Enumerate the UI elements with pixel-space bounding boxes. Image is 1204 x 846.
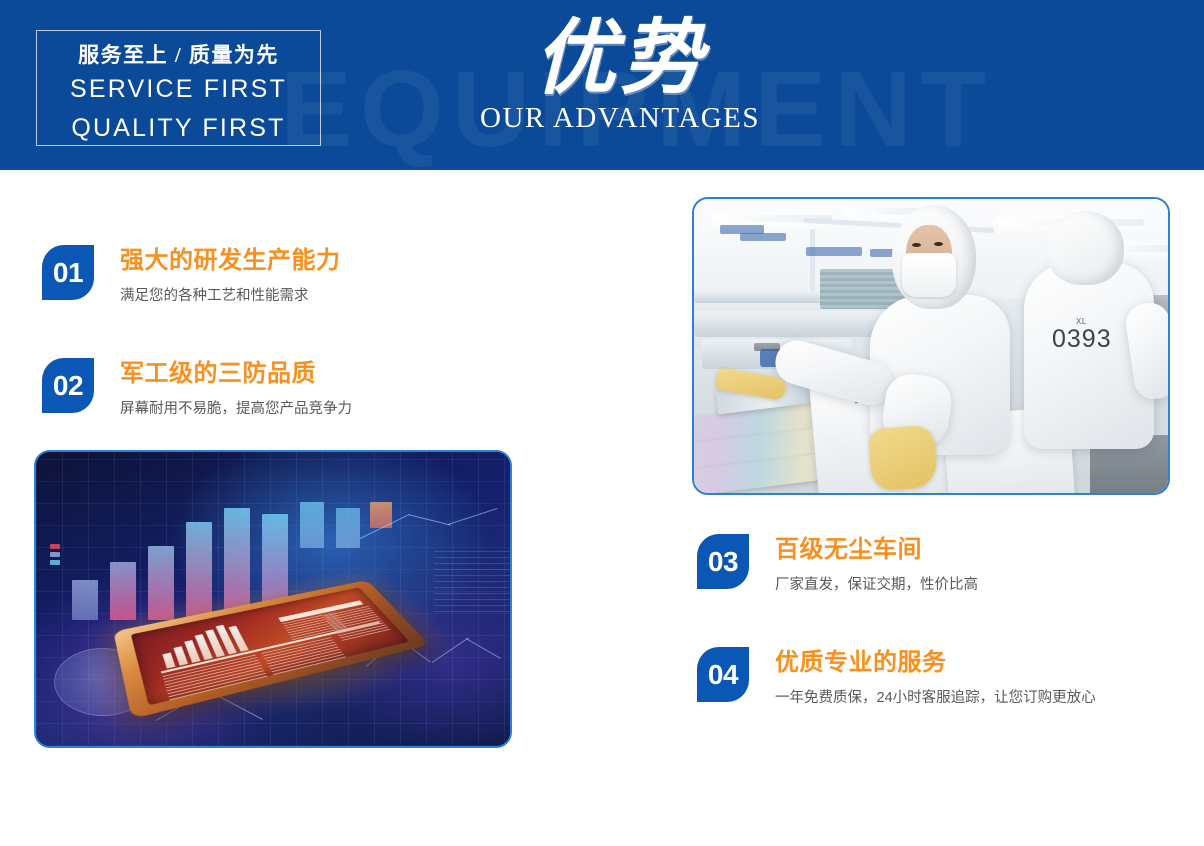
slogan-english-line1: SERVICE FIRST [37,66,320,105]
feature-title: 军工级的三防品质 [120,360,352,388]
feature-item-02: 02 军工级的三防品质 屏幕耐用不易脆，提高您产品竞争力 [42,358,352,419]
screen-bar [174,646,189,665]
feature-number-badge: 04 [697,647,749,702]
worker-glove [868,425,938,491]
background-bar [300,502,324,548]
uniform-id-number: 0393 [1052,325,1112,354]
page-title-block: 优势 OUR ADVANTAGES [470,22,770,152]
feature-title: 强大的研发生产能力 [120,247,341,275]
feature-item-04: 04 优质专业的服务 一年免费质保，24小时客服追踪，让您订购更放心 [697,647,1096,708]
header-banner: EQUIPMENT 服务至上 / 质量为先 SERVICE FIRST QUAL… [0,0,1204,170]
feature-number-badge: 03 [697,534,749,589]
feature-subtitle: 一年免费质保，24小时客服追踪，让您订购更放心 [775,677,1096,708]
slogan-box: 服务至上 / 质量为先 SERVICE FIRST QUALITY FIRST [36,30,321,146]
feature-subtitle: 屏幕耐用不易脆，提高您产品竞争力 [120,388,352,419]
screen-bar [184,640,200,663]
background-bar [110,562,136,620]
cleanroom-scene: XL 0393 [694,199,1168,493]
data-scene [36,452,510,746]
slogan-english-line2: QUALITY FIRST [37,105,320,144]
worker-eye [912,243,921,247]
feature-item-03: 03 百级无尘车间 厂家直发，保证交期，性价比高 [697,534,978,595]
data-visualization-photo [34,450,512,748]
feature-subtitle: 满足您的各种工艺和性能需求 [120,275,341,306]
legend-swatch [50,560,60,565]
background-bar [336,508,360,548]
worker-hood [1046,211,1124,285]
feature-item-01: 01 强大的研发生产能力 满足您的各种工艺和性能需求 [42,245,341,306]
page-title-chinese: 优势 [480,18,760,100]
feature-text-group: 军工级的三防品质 屏幕耐用不易脆，提高您产品竞争力 [120,358,352,419]
data-table-block [434,548,510,612]
worker-face-mask [902,253,956,297]
equipment-label [740,233,786,241]
equipment-label [806,247,862,256]
screen-bar [162,653,175,669]
feature-text-group: 百级无尘车间 厂家直发，保证交期，性价比高 [775,534,978,595]
feature-number-badge: 01 [42,245,94,300]
cleanroom-photo: XL 0393 [692,197,1170,495]
slogan-chinese: 服务至上 / 质量为先 [37,31,320,66]
ceiling-beam [810,229,815,291]
feature-number-badge: 02 [42,358,94,413]
legend-swatch [50,552,60,557]
feature-text-group: 强大的研发生产能力 满足您的各种工艺和性能需求 [120,245,341,306]
feature-text-group: 优质专业的服务 一年免费质保，24小时客服追踪，让您订购更放心 [775,647,1096,708]
feature-title: 优质专业的服务 [775,649,1096,677]
feature-title: 百级无尘车间 [775,536,978,564]
background-bar [72,580,98,620]
feature-subtitle: 厂家直发，保证交期，性价比高 [775,564,978,595]
legend-swatch [50,544,60,549]
page-title-english: OUR ADVANTAGES [470,104,770,133]
worker-eye [934,242,943,246]
screen-bar [228,626,248,652]
